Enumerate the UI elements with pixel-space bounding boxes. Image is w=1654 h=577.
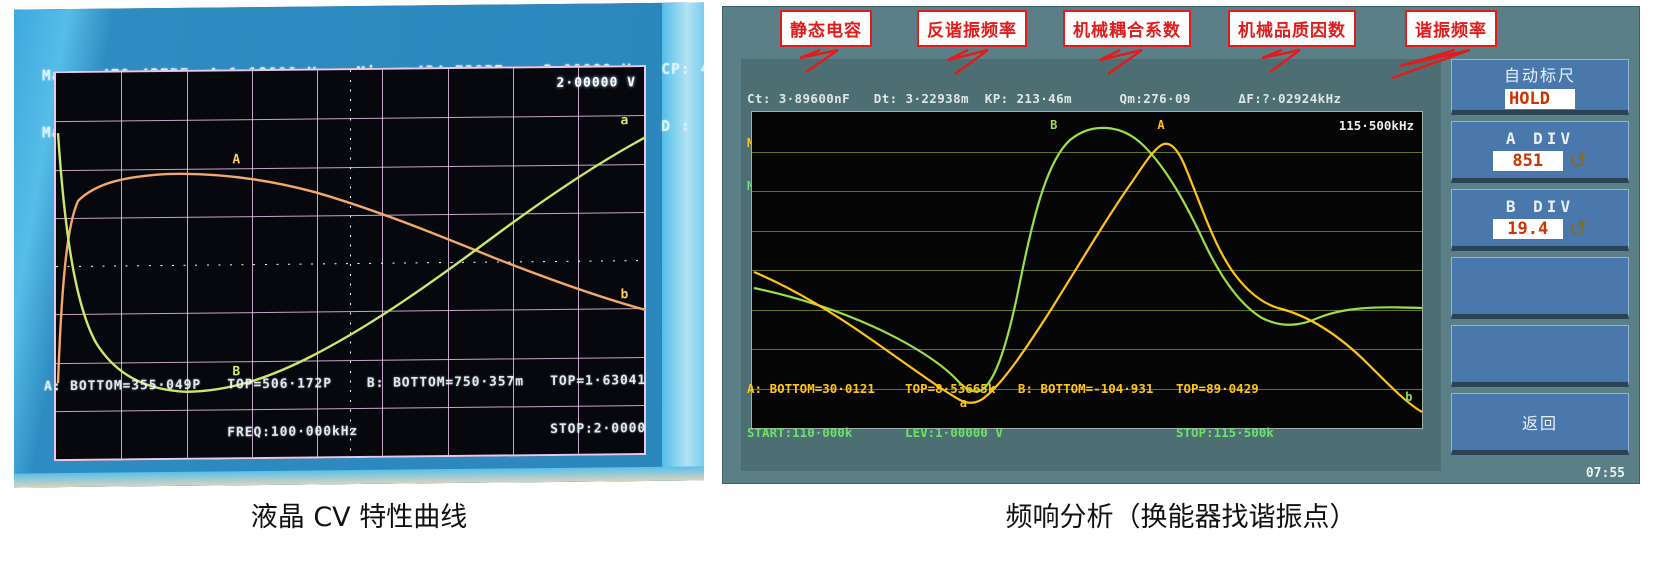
analyzer-footer-line-1: A: BOTTOM=30·0121 TOP=8·53665k B: BOTTOM… [747,382,1437,397]
softkey-a-div-label: A DIV [1506,129,1574,148]
softkey-auto-scale[interactable]: 自动标尺 HOLD [1451,59,1629,115]
softkey-empty-1[interactable] [1451,257,1629,319]
analyzer-marker-B: B [1050,118,1057,132]
caption-left: 液晶 CV 特性曲线 [14,495,704,534]
softkey-a-div[interactable]: A DIV 851 ↺ [1451,121,1629,183]
softkey-back-label: 返回 [1522,410,1558,434]
callout-antiresonant-frequency: 反谐振频率 [917,10,1027,47]
status-clock: 07:55 [1586,466,1625,481]
caption-right: 频响分析（换能器找谐振点） [722,495,1640,534]
rotary-knob-icon: ↺ [1569,220,1587,238]
callout-mechanical-q-factor: 机械品质因数 [1228,10,1356,47]
softkey-b-div-label: B DIV [1506,197,1574,216]
analyzer-header-line-1: Ct: 3·89600nF Dt: 3·22938m KP: 213·46m Q… [747,92,1437,107]
softkey-auto-scale-value[interactable]: HOLD [1505,89,1575,109]
left-marker-a-upper: a [620,113,628,128]
analyzer-softkey-panel: 自动标尺 HOLD A DIV 851 ↺ B DIV 19.4 ↺ [1451,59,1631,477]
callout-static-capacitance: 静态电容 [780,10,872,47]
analyzer-footer-line-2: START:110·000k LEV:1·00000 V STOP:115·50… [747,426,1437,441]
rotary-knob-icon: ↺ [1569,152,1587,170]
analyzer-display: Ct: 3·89600nF Dt: 3·22938m KP: 213·46m Q… [741,59,1441,471]
left-marker-b-lower: b [620,287,628,302]
left-instrument-photo: Max= 479·437PF A:1·18000 V Min= 434·730P… [14,2,704,487]
callout-coupling-coefficient: 机械耦合系数 [1063,10,1191,47]
left-marker-a: A [232,152,240,167]
analyzer-marker-A: A [1157,118,1164,132]
softkey-empty-2[interactable] [1451,325,1629,387]
screenshot-root: Max= 479·437PF A:1·18000 V Min= 434·730P… [0,0,1654,577]
analyzer-footer-readout: A: BOTTOM=30·0121 TOP=8·53665k B: BOTTOM… [747,353,1437,469]
softkey-back[interactable]: 返回 [1451,393,1629,455]
analyzer-curve-b [754,128,1422,392]
softkey-auto-scale-label: 自动标尺 [1504,62,1576,86]
softkey-b-div-value[interactable]: 19.4 [1493,219,1563,239]
left-footer-line-1: A: BOTTOM=355·049P TOP=506·172P B: BOTTO… [44,372,698,395]
softkey-b-div[interactable]: B DIV 19.4 ↺ [1451,189,1629,251]
callout-resonant-frequency: 谐振频率 [1405,10,1497,47]
left-footer-readout: A: BOTTOM=355·049P TOP=506·172P B: BOTTO… [44,340,698,475]
left-footer-line-2: FREQ:100·000kHz STOP:2·0000 [44,420,698,443]
softkey-a-div-value[interactable]: 851 [1493,151,1563,171]
right-instrument-screen: Ct: 3·89600nF Dt: 3·22938m KP: 213·46m Q… [722,6,1640,484]
